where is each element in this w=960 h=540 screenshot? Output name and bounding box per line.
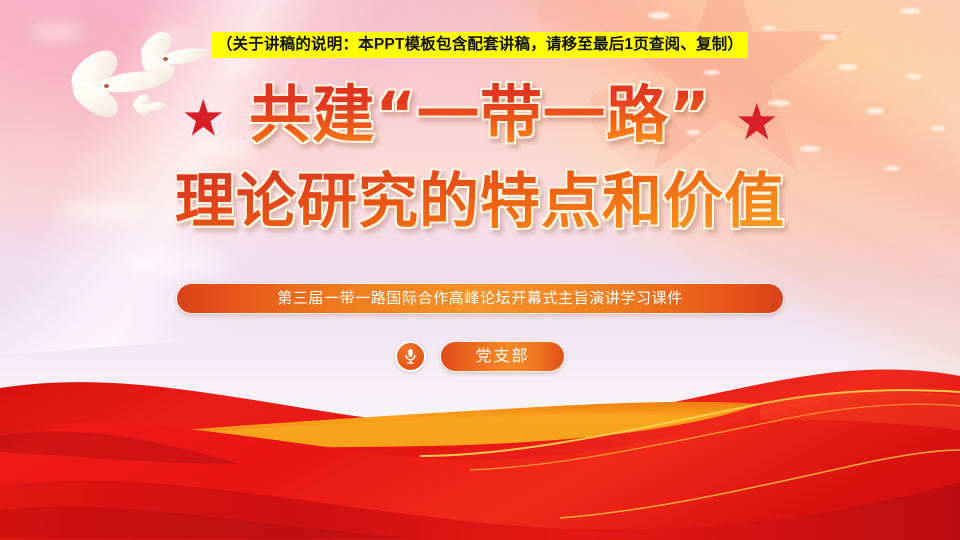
notice-banner: （关于讲稿的说明：本PPT模板包含配套讲稿，请移至最后1页查阅、复制）: [0, 32, 960, 58]
star-icon: [183, 98, 223, 138]
cloud-shape: [120, 250, 230, 276]
sparkle-dot: [906, 74, 922, 79]
sparkle-dot: [900, 8, 920, 14]
subtitle-badge: 第三届一带一路国际合作高峰论坛开幕式主旨演讲学习课件: [176, 283, 784, 314]
sparkle-dot: [704, 70, 720, 75]
subtitle-row: 第三届一带一路国际合作高峰论坛开幕式主旨演讲学习课件: [0, 283, 960, 314]
title-line2-row: 理论研究的特点和价值: [0, 166, 960, 238]
slide-title-line1: 共建“一带一路”: [249, 82, 711, 148]
slide-title-line2: 理论研究的特点和价值: [175, 166, 785, 238]
title-line1-row: 共建“一带一路”: [0, 82, 960, 148]
microphone-icon: [395, 341, 426, 372]
red-silk-ribbon-graphic: [0, 360, 960, 540]
organization-badge: 党支部: [440, 341, 564, 372]
notice-text: （关于讲稿的说明：本PPT模板包含配套讲稿，请移至最后1页查阅、复制）: [212, 32, 748, 58]
sparkle-dot: [838, 64, 858, 70]
cloud-shape: [218, 58, 264, 71]
sparkle-dot: [762, 26, 776, 31]
organization-row: 党支部: [0, 341, 960, 372]
star-icon: [737, 102, 777, 142]
sparkle-dot: [648, 12, 670, 19]
presentation-slide: （关于讲稿的说明：本PPT模板包含配套讲稿，请移至最后1页查阅、复制） 共建“一…: [0, 0, 960, 540]
